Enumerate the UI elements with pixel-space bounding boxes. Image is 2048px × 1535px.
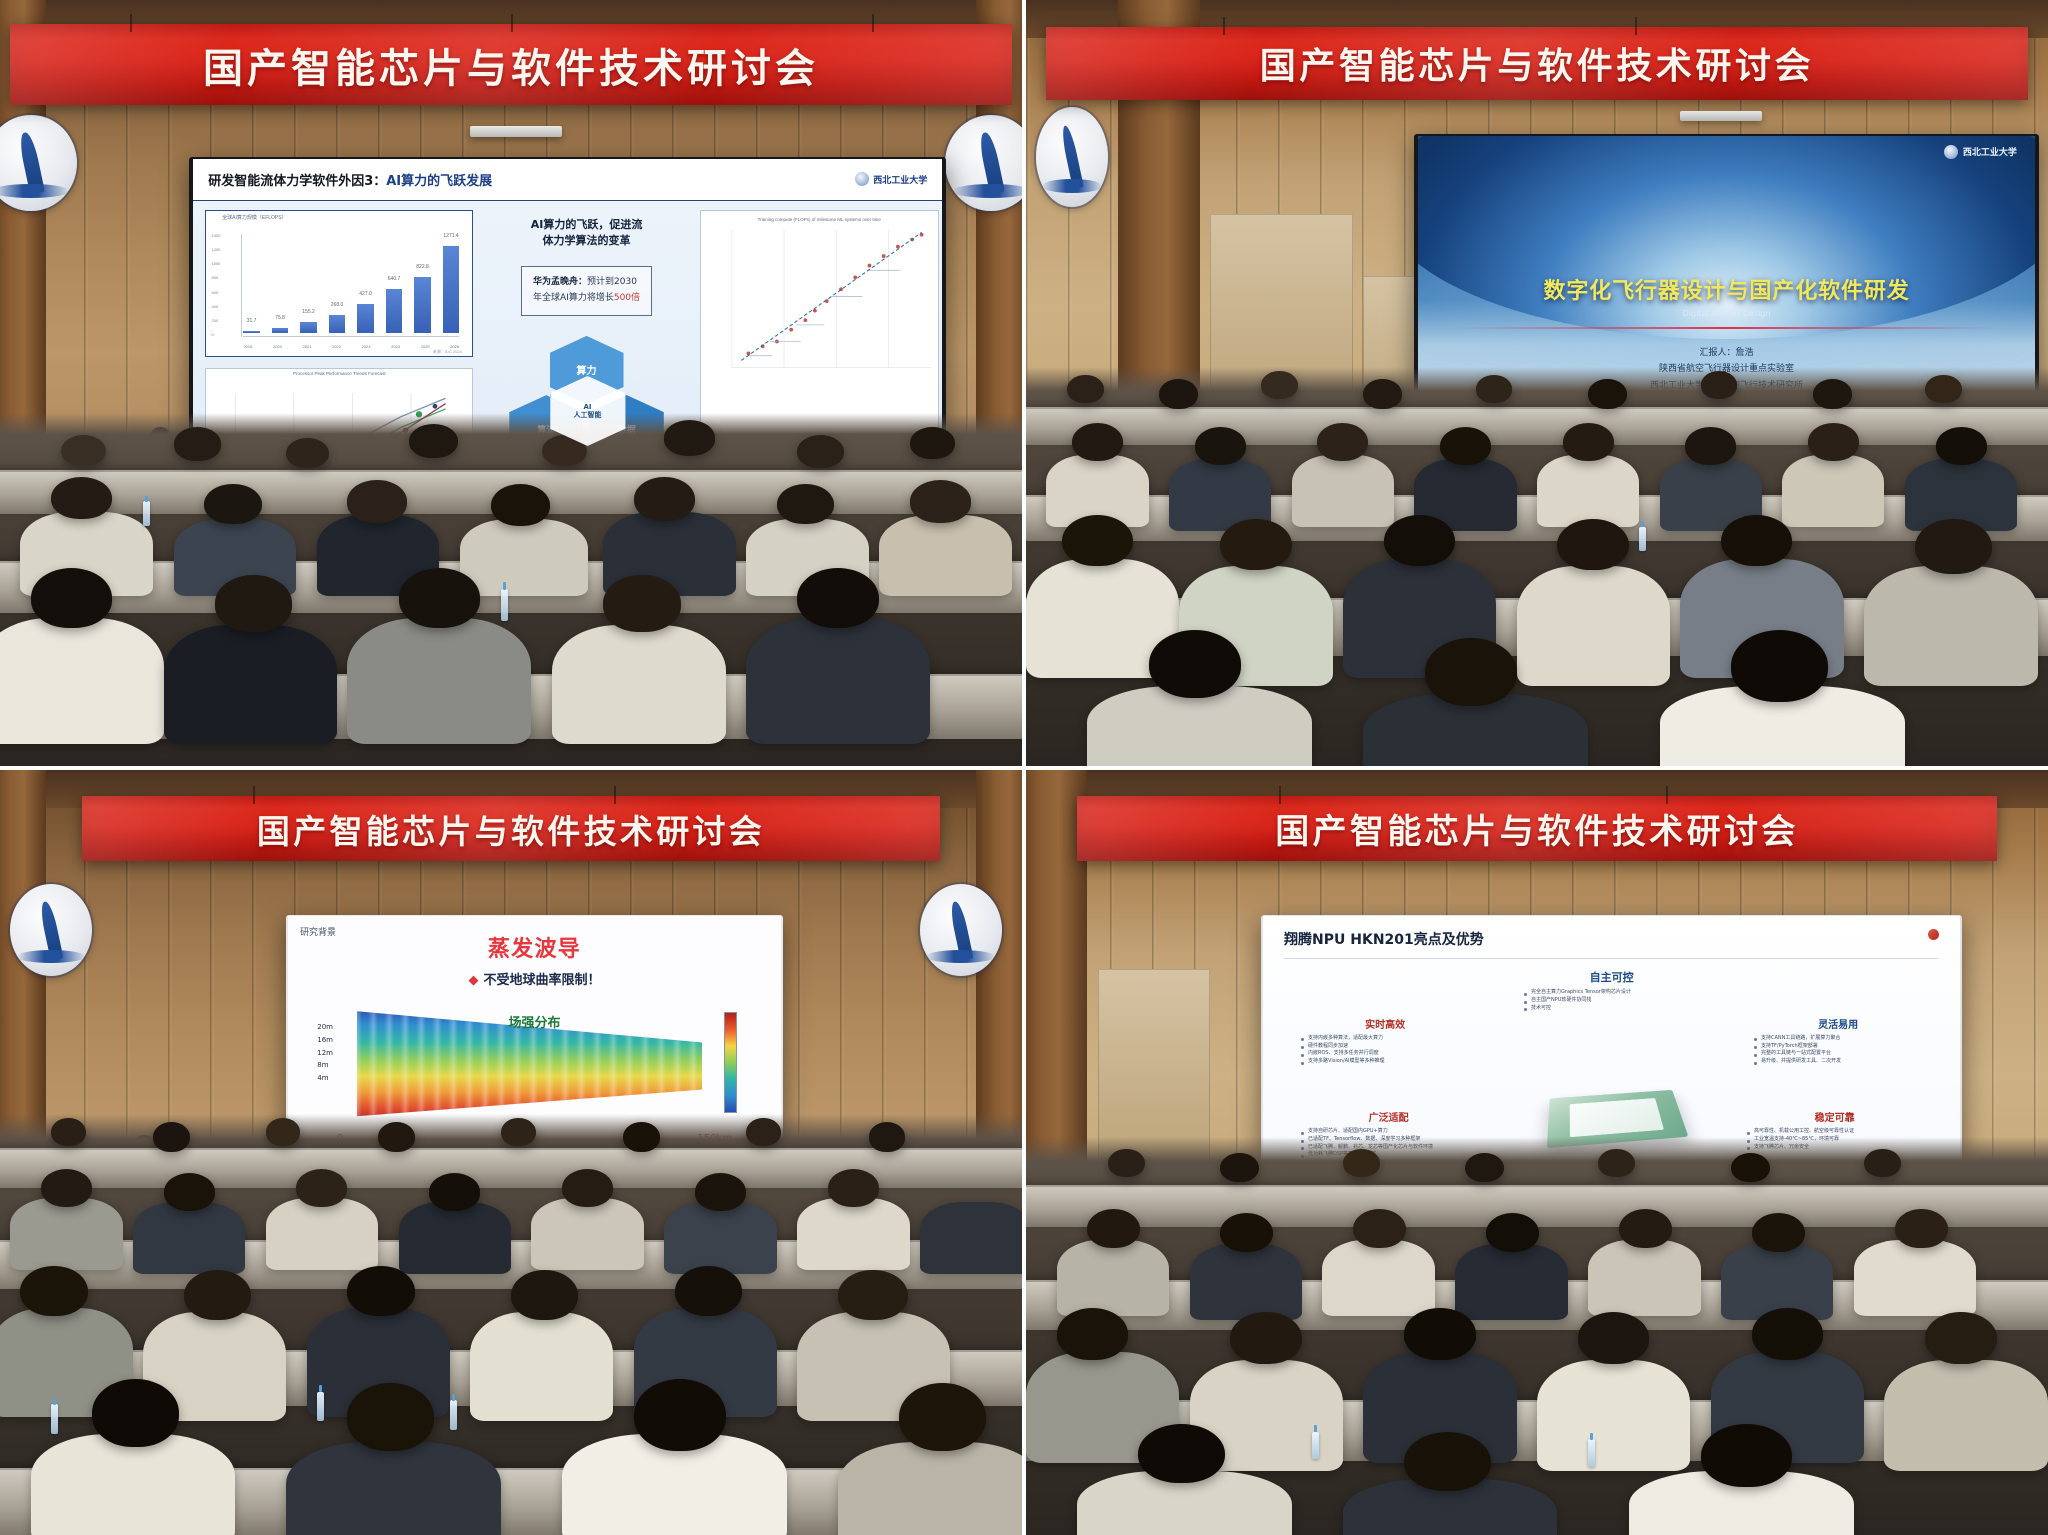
bar-chart: 全球AI算力规模（EFLOPS） 14001200100080060040020… (205, 210, 473, 357)
audience-body (133, 1202, 245, 1274)
audience-head (266, 1118, 301, 1146)
event-banner-text: 国产智能芯片与软件技术研讨会 (257, 805, 765, 853)
audience-head (1343, 1149, 1380, 1177)
audience-body (664, 1202, 776, 1274)
feature-flexible-easy: 灵活易用 支持CANN工具链路，扩展算力聚合 支持TF/PyTorch框架部署 … (1744, 1016, 1932, 1066)
audience-body (286, 1442, 501, 1535)
audience-head (1220, 1153, 1259, 1182)
audience-head (1864, 1149, 1901, 1177)
scatter-chart-svg (701, 211, 938, 389)
audience-head (1895, 1209, 1948, 1249)
audience-body (1057, 1240, 1169, 1316)
audience-head (1936, 427, 1987, 465)
feature-item: 高可靠性、机载公用工控、航空级可靠性认证 (1747, 1128, 1932, 1136)
audience-head (1925, 1312, 1997, 1364)
bar-value-label: 1271.4 (443, 233, 458, 239)
audience-head (164, 1173, 215, 1211)
slide-title-blue: AI算力的飞跃发展 (386, 174, 492, 189)
audience-head (51, 477, 112, 519)
audience-head (1353, 1209, 1406, 1249)
title-divider (1455, 327, 1998, 329)
audience-head (1230, 1312, 1302, 1364)
slide-subtitle: Digital Aircraft Design (1418, 309, 2036, 318)
projector-unit (470, 126, 562, 137)
audience-head (797, 435, 844, 468)
panel-3-slide-evaporation-duct: 国产智能芯片与软件技术研讨会 研究背景 蒸发波导 ◆不受地球曲率限制！ 场强分布… (0, 770, 1022, 1535)
y-tick: 16m (317, 1034, 333, 1047)
feature-heading: 广泛适配 (1291, 1109, 1486, 1124)
audience-head (1087, 1209, 1140, 1249)
water-bottle (1312, 1432, 1319, 1460)
audience-head (174, 427, 221, 460)
audience-head (828, 1169, 879, 1207)
audience-body (838, 1442, 1022, 1535)
center-heading: 自主可控 (1263, 969, 1960, 985)
bullet-text: 不受地球曲率限制！ (483, 973, 600, 988)
audience-head (1062, 515, 1134, 567)
audience-head (1486, 1213, 1539, 1253)
audience-body (1537, 1360, 1690, 1471)
x-tick: 2019 (243, 344, 252, 349)
bar-value-label: 427.0 (359, 291, 372, 297)
audience-head (623, 1122, 660, 1151)
slide-title: 研发智能流体力学软件外因3：AI算力的飞跃发展 (208, 170, 492, 189)
audience-head (1915, 519, 1992, 575)
audience-head (1149, 630, 1241, 698)
bar-value-label: 822.8 (416, 264, 429, 270)
hex-ai-label-en: AI (584, 403, 592, 411)
audience-head (1363, 379, 1402, 408)
event-banner-text: 国产智能芯片与软件技术研讨会 (1275, 804, 1799, 853)
feature-items: 支持内嵌多种算法，适配最大算力 硬件教程同步加速 内嵌ROS、支持多任务并行调度… (1291, 1035, 1479, 1066)
audience-head (1752, 1308, 1824, 1360)
audience-area (0, 1114, 1022, 1535)
water-bottle (51, 1404, 58, 1433)
bar-value-label: 155.2 (302, 309, 315, 315)
audience-head (1925, 375, 1962, 403)
audience-head (1557, 519, 1629, 571)
university-crest-icon (10, 884, 92, 976)
feature-item: 自主国产NPU软硬件协同栈 (1524, 997, 1709, 1005)
slide-title-black: 研发智能流体力学软件外因3： (208, 174, 386, 189)
audience-head (409, 424, 458, 458)
audience-body (1884, 1360, 2048, 1471)
feature-realtime-efficient: 实时高效 支持内嵌多种算法，适配最大算力 硬件教程同步加速 内嵌ROS、支持多任… (1291, 1016, 1479, 1066)
x-tick: 2022 (332, 344, 341, 349)
center-items: 完全自主算力Graphics Tensor架构芯片设计 自主国产NPU软硬件协同… (1514, 989, 1709, 1012)
audience-head (31, 568, 113, 628)
audience-body (266, 1198, 378, 1270)
audience-body (31, 1434, 235, 1535)
event-banner-text: 国产智能芯片与软件技术研讨会 (1260, 37, 1814, 89)
audience-head (1578, 1312, 1650, 1364)
audience-head (347, 480, 406, 522)
audience-head (910, 427, 955, 459)
audience-head (1057, 1308, 1129, 1360)
quote-emphasis: 500倍 (614, 293, 640, 303)
audience-head (491, 484, 550, 526)
audience-body (531, 1198, 643, 1270)
audience-body (920, 1202, 1022, 1274)
bar-chart-x-axis (243, 336, 459, 337)
audience-head (184, 1270, 251, 1321)
audience-body (1588, 1240, 1700, 1316)
audience-head (92, 1379, 179, 1446)
audience-head (910, 480, 971, 522)
water-bottle (501, 589, 508, 621)
feature-item: 完整的工具链与一站式配置平台 (1754, 1050, 1932, 1058)
feature-item: 支持内嵌多种算法，适配最大算力 (1301, 1035, 1479, 1043)
audience-head (429, 1173, 480, 1211)
audience-head (1404, 1308, 1476, 1360)
event-banner: 国产智能芯片与软件技术研讨会 (1046, 27, 2027, 100)
audience-body (10, 1198, 122, 1270)
bar-value-label: 75.8 (275, 315, 285, 321)
feature-item: 易升级、并提供研发工具、二次开发 (1754, 1058, 1932, 1066)
slide-title-bar: 研发智能流体力学软件外因3：AI算力的飞跃发展 西北工业大学 (193, 159, 942, 201)
audience-body (470, 1312, 613, 1421)
audience-body (1087, 686, 1312, 766)
bar-chart-bars: 31.7 75.8 155.2 268.0 427.0 640.7 822.8 … (243, 237, 459, 333)
audience-head (664, 420, 715, 455)
audience-head (347, 1266, 414, 1317)
audience-area (0, 413, 1022, 765)
audience-head (204, 484, 261, 524)
audience-head (1220, 1213, 1273, 1253)
slide-lead-text: AI算力的飞跃，促进流 体力学算法的变革 (531, 217, 643, 250)
university-mark-icon (1944, 145, 1958, 159)
bar-chart-y-ticks: 1400120010008006004002000 (212, 233, 221, 337)
audience-head (899, 1383, 986, 1450)
event-banner-text: 国产智能芯片与软件技术研讨会 (203, 36, 819, 94)
seat-row (1026, 407, 2048, 445)
feature-items: 支持CANN工具链路，扩展算力聚合 支持TF/PyTorch框架部署 完整的工具… (1744, 1035, 1932, 1066)
feature-item: 技术可控 (1524, 1005, 1709, 1013)
company-mark-icon (1928, 929, 1939, 940)
audience-head (511, 1270, 578, 1321)
bar-chart-source: 来源：IDC 2024 (433, 349, 462, 355)
x-tick: 2025 (421, 344, 430, 349)
audience-head (61, 435, 106, 467)
audience-head (777, 484, 834, 524)
panel-2-title-slide-digital-aircraft: 国产智能芯片与软件技术研讨会 西北工业大学 数字化飞行器设计与国产化软件研发 D… (1026, 0, 2048, 766)
audience-head (1685, 427, 1736, 465)
presenter-label: 汇报人：詹浩 (1418, 345, 2036, 362)
audience-area (1026, 1137, 2048, 1535)
bar-value-label: 268.0 (331, 302, 344, 308)
audience-body (1455, 1244, 1567, 1320)
audience-head (1563, 423, 1614, 461)
audience-body (879, 515, 1012, 596)
audience-head (1808, 423, 1859, 461)
audience-body (1292, 455, 1394, 527)
feature-heading: 实时高效 (1291, 1016, 1479, 1031)
quote-text-1: 预计到2030 (587, 277, 637, 287)
audience-head (1752, 1213, 1805, 1253)
audience-head (1588, 379, 1627, 408)
slide-bullet: ◆不受地球曲率限制！ (288, 969, 782, 988)
event-banner: 国产智能芯片与软件技术研讨会 (10, 24, 1012, 104)
bar-chart-y-axis (241, 234, 242, 337)
company-logo (1928, 929, 1939, 940)
bar-value-label: 640.7 (388, 276, 401, 282)
audience-head (1440, 427, 1491, 465)
university-crest-icon (1036, 107, 1108, 207)
water-bottle (450, 1400, 457, 1429)
audience-head (1384, 515, 1456, 567)
audience-head (153, 1122, 190, 1151)
audience-head (1598, 1149, 1635, 1177)
bar-chart-x-labels: 2019 2020 2021 2022 2023 2024 2025 2026 (243, 344, 459, 349)
audience-head (634, 477, 695, 521)
event-banner: 国产智能芯片与软件技术研讨会 (1077, 796, 1997, 861)
audience-head (347, 1383, 434, 1450)
audience-body (347, 618, 531, 745)
university-name: 西北工业大学 (1963, 145, 2017, 158)
audience-body (164, 625, 338, 745)
audience-body (399, 1202, 511, 1274)
university-logo: 西北工业大学 (855, 172, 927, 186)
bar-chart-title: 全球AI算力规模（EFLOPS） (206, 214, 472, 221)
seat-row (1026, 1185, 2048, 1227)
water-bottle (1588, 1439, 1595, 1467)
audience-head (1619, 1209, 1672, 1249)
slide-main-title: 数字化飞行器设计与国产化软件研发 (1418, 273, 2036, 305)
audience-head (1072, 423, 1123, 461)
audience-head (562, 1169, 613, 1207)
center-feature-list: 完全自主算力Graphics Tensor架构芯片设计 自主国产NPU软硬件协同… (1514, 989, 1709, 1012)
hex-ai-label-cn: 人工智能 (574, 411, 602, 419)
audience-head (1067, 375, 1104, 403)
audience-body (1517, 566, 1670, 685)
audience-head (797, 568, 879, 628)
audience-head (1195, 427, 1246, 465)
diamond-bullet-icon: ◆ (468, 973, 478, 988)
slide-main-title: 蒸发波导 (288, 931, 782, 963)
audience-head (1404, 1432, 1491, 1492)
university-mark-icon (855, 172, 869, 186)
title-divider (1284, 958, 1939, 959)
bar-value-label: 31.7 (247, 318, 257, 324)
lead-line-2: 体力学算法的变革 (531, 233, 643, 250)
audience-head (378, 1122, 415, 1151)
audience-head (1220, 519, 1292, 571)
x-tick: 2020 (273, 344, 282, 349)
audience-head (634, 1379, 726, 1451)
water-bottle (143, 501, 150, 526)
slide-main-title: 翔腾NPU HKN201亮点及优势 (1284, 929, 1484, 949)
audience-body (460, 519, 588, 596)
audience-body (552, 625, 726, 745)
feature-item: 完全自主算力Graphics Tensor架构芯片设计 (1524, 989, 1709, 997)
audience-head (501, 1118, 536, 1146)
audience-head (1317, 423, 1368, 461)
audience-head (1108, 1149, 1145, 1177)
photo-collage: 国产智能芯片与软件技术研讨会 研发智能流体力学软件外因3：AI算力的飞跃发展 西… (0, 0, 2048, 1535)
audience-head (1261, 371, 1298, 399)
panel-4-slide-npu-hkn201: 国产智能芯片与软件技术研讨会 翔腾NPU HKN201亮点及优势 自主可控 完全… (1026, 770, 2048, 1535)
audience-head (603, 575, 681, 631)
x-tick: 2023 (362, 344, 371, 349)
feature-heading: 稳定可靠 (1737, 1109, 1932, 1124)
audience-body (1537, 455, 1639, 527)
quote-box: 华为孟晚舟：预计到2030 年全球AI算力将增长500倍 (521, 266, 652, 316)
university-name: 西北工业大学 (873, 173, 927, 186)
audience-body (1864, 566, 2038, 685)
y-tick: 12m (317, 1047, 333, 1060)
quote-text-2: 年全球AI算力将增长 (533, 293, 614, 303)
water-bottle (317, 1392, 324, 1421)
audience-head (1159, 379, 1198, 408)
feature-item: 支持CANN工具链路，扩展算力聚合 (1754, 1035, 1932, 1043)
audience-area (1026, 367, 2048, 765)
audience-head (20, 1266, 87, 1317)
audience-body (1854, 1240, 1977, 1316)
audience-head (1731, 1153, 1770, 1182)
audience-head (286, 438, 329, 468)
feature-item: 支持自研芯片、适配国内GPU+算力 (1301, 1128, 1486, 1136)
audience-head (1138, 1424, 1225, 1484)
x-tick: 2024 (391, 344, 400, 349)
water-bottle (1639, 527, 1646, 551)
audience-head (1465, 1153, 1504, 1182)
audience-head (1701, 371, 1738, 399)
audience-body (1782, 455, 1884, 527)
audience-head (399, 568, 481, 628)
audience-head (1476, 375, 1513, 403)
audience-head (215, 575, 293, 631)
audience-head (41, 1169, 92, 1207)
y-tick: 8m (317, 1059, 333, 1072)
audience-head (746, 1118, 781, 1146)
audience-head (296, 1169, 347, 1207)
field-strength-label: 场强分布 (288, 1012, 782, 1031)
audience-head (1721, 515, 1793, 567)
audience-head (1731, 630, 1828, 702)
y-tick: 4m (317, 1072, 333, 1085)
audience-head (1425, 638, 1517, 706)
university-logo: 西北工业大学 (1944, 145, 2017, 159)
feature-item: 内嵌ROS、支持多任务并行调度 (1301, 1050, 1479, 1058)
audience-head (1813, 379, 1852, 408)
feature-item: 支持多路Vision/AI模型等多种推理 (1301, 1058, 1479, 1066)
audience-head (1701, 1424, 1793, 1488)
x-tick: 2021 (303, 344, 312, 349)
audience-head (51, 1118, 86, 1146)
audience-head (675, 1266, 742, 1317)
audience-head (695, 1173, 746, 1211)
audience-body (746, 618, 930, 745)
lead-line-1: AI算力的飞跃，促进流 (531, 217, 643, 234)
feature-heading: 灵活易用 (1744, 1016, 1932, 1031)
university-crest-icon (920, 884, 1002, 976)
panel-1-conference-slide-ai-compute: 国产智能芯片与软件技术研讨会 研发智能流体力学软件外因3：AI算力的飞跃发展 西… (0, 0, 1022, 766)
audience-body (1322, 1240, 1434, 1316)
event-banner: 国产智能芯片与软件技术研讨会 (82, 796, 941, 861)
audience-body (797, 1198, 909, 1270)
quote-attribution: 华为孟晚舟： (533, 277, 587, 287)
audience-body (0, 618, 164, 745)
projector-unit (1680, 111, 1762, 121)
audience-head (869, 1122, 906, 1151)
audience-body (1190, 1244, 1302, 1320)
audience-head (838, 1270, 907, 1321)
